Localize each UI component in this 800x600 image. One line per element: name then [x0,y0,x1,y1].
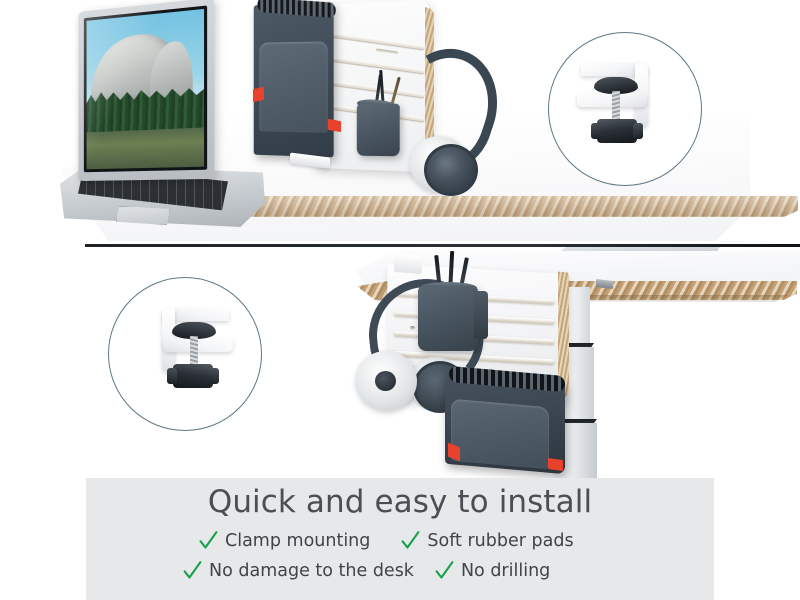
organizer-mount-bracket [394,254,422,274]
clamp-knob-lobe [591,123,601,139]
headphones-above-desk [388,48,498,193]
laptop-trackpad [116,206,170,225]
bottom-panel-under-desk-scene [0,247,800,478]
headphone-ear-cup-inner [434,154,462,180]
notebook-spiral-binding [258,0,336,18]
clamp-callout-bottom-left [108,277,262,431]
organizer-notebook [254,3,334,158]
clamp-callout-top-right [548,32,702,186]
feature-no-drilling: No drilling [434,560,550,581]
page-title: Quick and easy to install [86,484,714,520]
feature-label: Soft rubber pads [427,531,573,551]
feature-row-1: Clamp mounting Soft rubber pads [198,530,574,551]
laptop-screen-wallpaper [84,5,207,172]
infographic-canvas: Quick and easy to install Clamp mounting… [0,0,800,600]
clamp-knob-lobe [633,123,643,139]
feature-text-band: Quick and easy to install Clamp mounting… [86,478,714,600]
notebook-red-tab [548,458,563,471]
notebook-front-pocket [451,399,549,470]
clamp-thumb-knob [173,364,213,388]
clamp-illustration [109,278,261,430]
feature-soft-rubber-pads: Soft rubber pads [400,530,573,551]
screen-glare [84,5,207,172]
notebook-red-tab [253,87,264,102]
check-icon [198,530,219,551]
headphone-ear-cushion-left-inner [375,371,396,391]
check-icon [400,530,421,551]
notebook-red-tab [328,119,341,132]
feature-label: No drilling [461,561,550,581]
check-icon [434,560,455,581]
feature-no-damage: No damage to the desk [182,560,414,581]
pen-cup-clip [474,291,488,339]
clamp-illustration [549,33,701,185]
pen-cup [418,287,478,351]
clamp-thumb-knob [597,119,637,143]
clamp-knob-lobe [167,368,177,384]
feature-row-2: No damage to the desk No drilling [182,560,550,581]
feature-label: No damage to the desk [209,561,414,581]
clamp-knob-lobe [209,368,219,384]
feature-label: Clamp mounting [225,531,370,551]
top-panel-above-desk-scene [0,0,800,245]
laptop-lid [78,0,214,181]
check-icon [182,560,203,581]
notebook-under-desk [445,367,570,472]
notebook-front-pocket [259,41,327,132]
clamp-bottom-arm [163,338,233,352]
feature-clamp-mounting: Clamp mounting [198,530,370,551]
laptop [60,5,270,230]
